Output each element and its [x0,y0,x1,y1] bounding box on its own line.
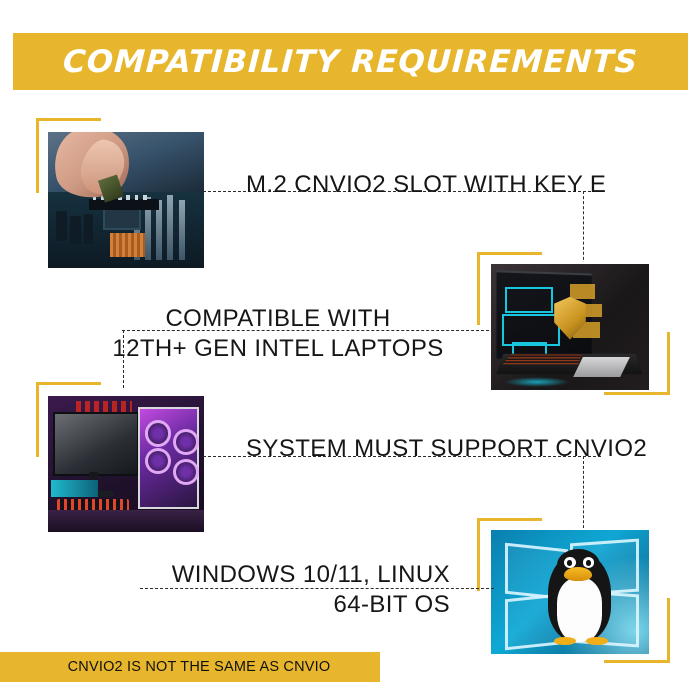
caption-slot-line-1: M.2 CNVIO2 SLOT WITH KEY E [246,171,606,198]
image-rgb-setup [46,394,206,534]
caption-os-line-2: 64-BIT OS [120,590,450,620]
footer-note: CNVIO2 IS NOT THE SAME AS CNVIO [0,652,380,682]
caption-gen-line-1: COMPATIBLE WITH [165,305,390,332]
caption-gen: COMPATIBLE WITH 12TH+ GEN INTEL LAPTOPS [104,304,452,364]
caption-os-line-1: WINDOWS 10/11, LINUX [172,561,450,588]
caption-support-line-1: SYSTEM MUST SUPPORT CNVIO2 [246,435,647,462]
footer-banner: CNVIO2 IS NOT THE SAME AS CNVIO [0,652,380,682]
image-windows-linux [489,528,651,656]
connector-drop-3 [583,456,584,538]
image-motherboard [46,130,206,270]
image-laptop-shield [489,262,651,392]
infographic-canvas: COMPATIBILITY REQUIREMENTS [0,0,700,700]
caption-support: SYSTEM MUST SUPPORT CNVIO2 [246,434,647,464]
caption-os: WINDOWS 10/11, LINUX 64-BIT OS [120,560,450,620]
caption-gen-line-2: 12TH+ GEN INTEL LAPTOPS [104,334,452,364]
page-title: COMPATIBILITY REQUIREMENTS [12,33,690,90]
caption-slot: M.2 CNVIO2 SLOT WITH KEY E [246,170,606,200]
header-banner: COMPATIBILITY REQUIREMENTS [13,33,688,90]
